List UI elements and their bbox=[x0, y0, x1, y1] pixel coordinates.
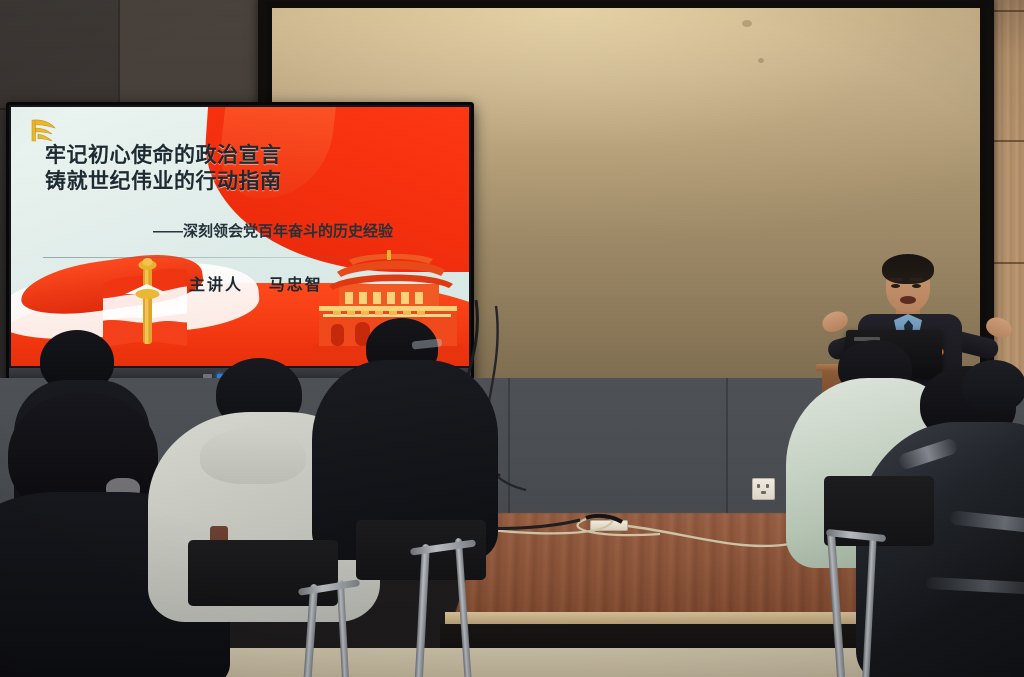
speaker-name: 马忠智 bbox=[269, 277, 323, 294]
jacket-hood bbox=[200, 428, 306, 484]
wall-power-outlet bbox=[752, 478, 775, 500]
slide-title-line1: 牢记初心使命的政治宣言 bbox=[45, 143, 375, 169]
presenter-eye bbox=[912, 284, 921, 288]
presenter-brow bbox=[890, 278, 903, 281]
slide-speaker-line: 主讲人 马忠智 bbox=[189, 271, 323, 295]
chair-left bbox=[188, 540, 378, 677]
photo-scene: 牢记初心使命的政治宣言 铸就世纪伟业的行动指南 ——深刻领会党百年奋斗的历史经验… bbox=[0, 0, 1024, 677]
wall-panel-mid bbox=[118, 0, 266, 110]
chair-right bbox=[816, 476, 956, 676]
presenter-right-hand bbox=[984, 314, 1015, 341]
attendee-head bbox=[962, 360, 1024, 412]
speaker-role-label: 主讲人 bbox=[189, 277, 243, 294]
chair-center bbox=[356, 520, 546, 677]
slide-title-line2: 铸就世纪伟业的行动指南 bbox=[45, 169, 375, 195]
cpc-party-emblem-icon bbox=[26, 116, 60, 146]
presenter-eye bbox=[891, 284, 900, 288]
attendee-far-right bbox=[962, 360, 1024, 430]
slide-divider bbox=[43, 257, 373, 258]
slide-subtitle: ——深刻领会党百年奋斗的历史经验 bbox=[153, 220, 463, 241]
slide-title: 牢记初心使命的政治宣言 铸就世纪伟业的行动指南 bbox=[45, 143, 375, 194]
presenter-mouth bbox=[900, 296, 916, 304]
presenter-brow bbox=[910, 278, 923, 281]
wall-column-left bbox=[0, 0, 118, 110]
